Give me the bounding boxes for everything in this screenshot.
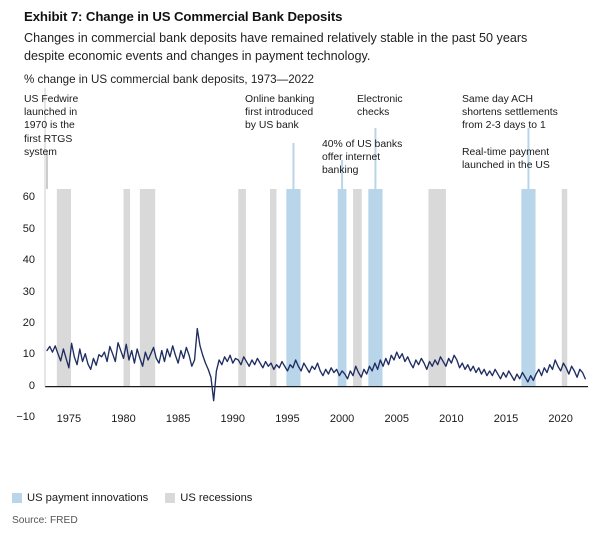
- y-axis-tick-5: 40: [5, 254, 35, 266]
- chart-page: Exhibit 7: Change in US Commercial Bank …: [0, 0, 600, 533]
- x-axis-tick-7: 2010: [429, 413, 473, 425]
- y-axis-tick-7: 60: [5, 191, 35, 203]
- vband-recession: [353, 189, 362, 387]
- vband-recession: [562, 189, 567, 387]
- x-axis-tick-6: 2005: [375, 413, 419, 425]
- y-axis-tick-3: 20: [5, 317, 35, 329]
- legend-swatch-recessions: [165, 493, 175, 503]
- chart-subtitle: Changes in commercial bank deposits have…: [24, 30, 544, 65]
- x-axis-tick-9: 2020: [539, 413, 583, 425]
- y-axis-tick-1: 0: [5, 380, 35, 392]
- x-axis-tick-5: 2000: [320, 413, 364, 425]
- annotation-3: 40% of US banks offer internet banking: [322, 138, 402, 178]
- legend-label-innovations: US payment innovations: [27, 492, 148, 504]
- page-title: Exhibit 7: Change in US Commercial Bank …: [24, 8, 584, 26]
- legend-item-recessions: US recessions: [165, 492, 252, 504]
- vband-recession: [270, 189, 277, 387]
- vband-innovation: [286, 189, 300, 387]
- annotation-1: Online banking first introduced by US ba…: [245, 93, 314, 133]
- annotation-5: Real-time payment launched in the US: [462, 146, 550, 172]
- x-axis-tick-0: 1975: [47, 413, 91, 425]
- x-axis-tick-1: 1980: [102, 413, 146, 425]
- chart-svg: [0, 88, 600, 460]
- source-note: Source: FRED: [12, 515, 78, 526]
- annotation-4: Same day ACH shortens settlements from 2…: [462, 93, 558, 133]
- vband-innovation: [521, 189, 535, 387]
- vband-recession: [428, 189, 445, 387]
- y-axis-tick-4: 30: [5, 286, 35, 298]
- annotation-0: US Fedwire launched in 1970 is the first…: [24, 93, 78, 159]
- x-axis-tick-8: 2015: [484, 413, 528, 425]
- x-axis-tick-2: 1985: [156, 413, 200, 425]
- legend-item-innovations: US payment innovations: [12, 492, 148, 504]
- y-axis-tick-6: 50: [5, 223, 35, 235]
- vband-innovation: [368, 189, 382, 387]
- legend-swatch-innovations: [12, 493, 22, 503]
- y-axis-tick-2: 10: [5, 348, 35, 360]
- annotation-2: Electronic checks: [357, 93, 403, 119]
- vband-recession: [238, 189, 246, 387]
- y-axis-tick-0: −10: [5, 411, 35, 423]
- x-axis-tick-3: 1990: [211, 413, 255, 425]
- chart-unit-label: % change in US commercial bank deposits,…: [24, 72, 584, 88]
- chart-container: US Fedwire launched in 1970 is the first…: [0, 88, 600, 460]
- x-axis-tick-4: 1995: [265, 413, 309, 425]
- legend-label-recessions: US recessions: [180, 492, 252, 504]
- chart-header: Exhibit 7: Change in US Commercial Bank …: [24, 8, 584, 88]
- vband-innovation: [338, 189, 347, 387]
- chart-legend: US payment innovations US recessions: [12, 492, 252, 504]
